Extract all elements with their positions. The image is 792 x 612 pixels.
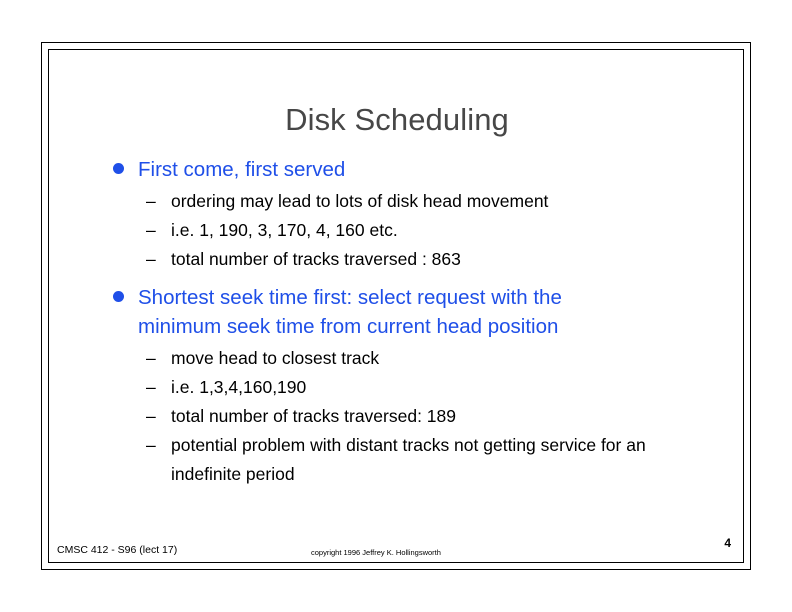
- footer-copyright-label: copyright 1996 Jeffrey K. Hollingsworth: [311, 547, 441, 558]
- sub-bullet-item: – potential problem with distant tracks …: [49, 431, 745, 489]
- sub-bullet-label: move head to closest track: [171, 344, 715, 373]
- sub-bullet-label: potential problem with distant tracks no…: [171, 431, 715, 489]
- bullet-group-2: Shortest seek time first: select request…: [49, 283, 745, 341]
- sub-bullet-item: – total number of tracks traversed : 863: [49, 245, 745, 274]
- page-title: Disk Scheduling: [49, 102, 745, 138]
- dash-bullet-icon: –: [146, 402, 156, 431]
- sub-bullet-label: total number of tracks traversed : 863: [171, 245, 715, 274]
- sub-bullet-label: i.e. 1, 190, 3, 170, 4, 160 etc.: [171, 216, 715, 245]
- dash-bullet-icon: –: [146, 344, 156, 373]
- dash-bullet-icon: –: [146, 431, 156, 460]
- sub-bullet-label: ordering may lead to lots of disk head m…: [171, 187, 715, 216]
- sub-bullet-label: i.e. 1,3,4,160,190: [171, 373, 715, 402]
- footer-page-number: 4: [724, 536, 731, 550]
- sub-bullet-item: – total number of tracks traversed: 189: [49, 402, 745, 431]
- dash-bullet-icon: –: [146, 216, 156, 245]
- bullet-heading: First come, first served: [138, 155, 646, 184]
- sub-bullet-item: – i.e. 1, 190, 3, 170, 4, 160 etc.: [49, 216, 745, 245]
- bullet-group-1: First come, first served: [49, 155, 745, 184]
- slide-content: First come, first served – ordering may …: [49, 155, 745, 489]
- sub-bullet-item: – i.e. 1,3,4,160,190: [49, 373, 745, 402]
- sub-bullet-item: – move head to closest track: [49, 344, 745, 373]
- filled-circle-bullet-icon: [113, 163, 124, 174]
- bullet-heading: Shortest seek time first: select request…: [138, 283, 646, 341]
- sub-list-2: – move head to closest track – i.e. 1,3,…: [49, 344, 745, 489]
- dash-bullet-icon: –: [146, 245, 156, 274]
- dash-bullet-icon: –: [146, 187, 156, 216]
- filled-circle-bullet-icon: [113, 291, 124, 302]
- group-spacer: [49, 274, 745, 283]
- sub-list-1: – ordering may lead to lots of disk head…: [49, 187, 745, 274]
- dash-bullet-icon: –: [146, 373, 156, 402]
- footer-course-label: CMSC 412 - S96 (lect 17): [57, 544, 177, 557]
- sub-bullet-item: – ordering may lead to lots of disk head…: [49, 187, 745, 216]
- sub-bullet-label: total number of tracks traversed: 189: [171, 402, 715, 431]
- slide-inner-border: Disk Scheduling First come, first served…: [48, 49, 744, 563]
